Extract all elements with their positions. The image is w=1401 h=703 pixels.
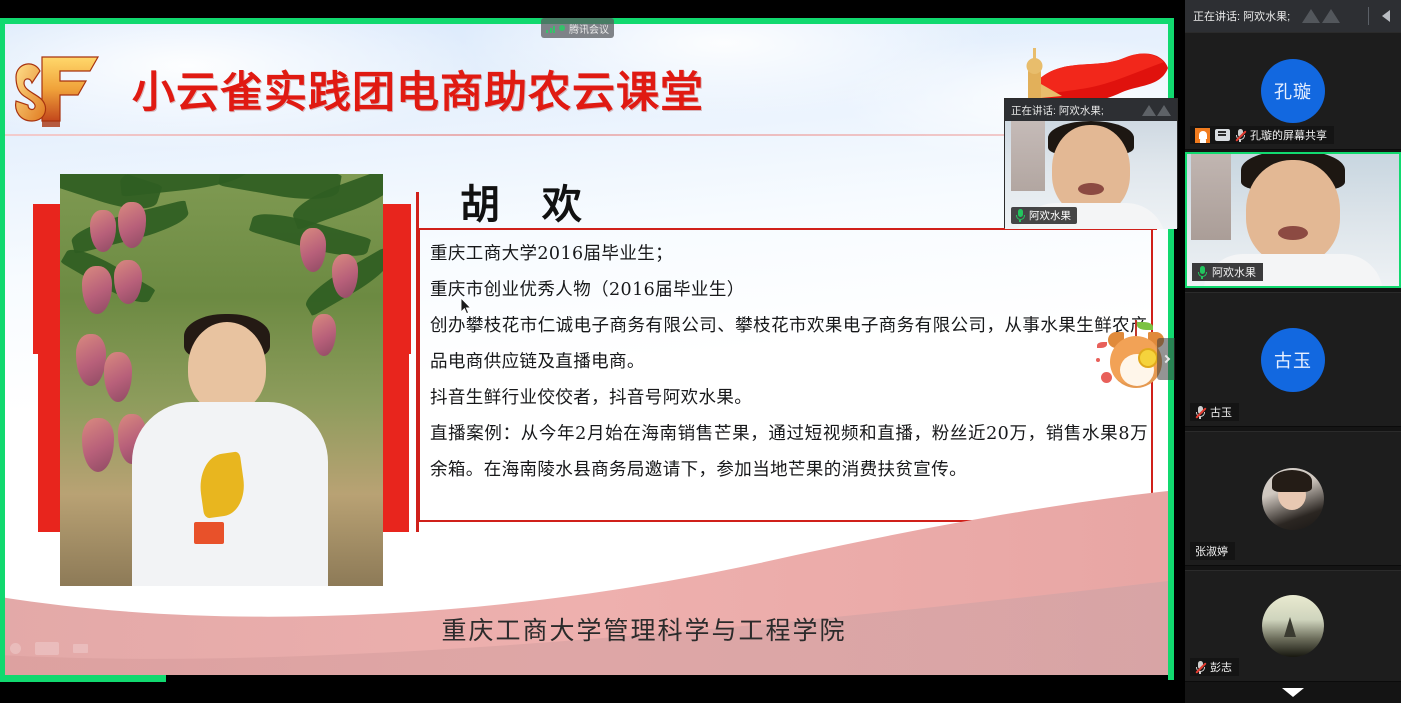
pip-audio-wave-icon: [1142, 105, 1171, 116]
avatar: 孔璇: [1261, 59, 1325, 123]
sidebar-collapse-button[interactable]: [1375, 5, 1397, 27]
participant-tile-ahuanshuiguo[interactable]: 阿欢水果: [1185, 152, 1401, 288]
host-badge-icon: [1195, 128, 1210, 143]
slide-title: 小云雀实践团电商助农云课堂: [132, 58, 704, 120]
bio-line-3: 创办攀枝花市仁诚电子商务有限公司、攀枝花市欢果电子商务有限公司，从事水果生鲜农产…: [430, 308, 1148, 380]
tile-label-row: 阿欢水果: [1192, 263, 1263, 281]
bio-text-panel: 重庆工商大学2016届毕业生； 重庆市创业优秀人物（2016届毕业生） 创办攀枝…: [418, 228, 1153, 522]
topbar-divider: [1368, 7, 1369, 25]
tencent-meeting-chip[interactable]: 腾讯会议: [541, 18, 614, 38]
mic-muted-icon: [1195, 661, 1205, 674]
floating-speaker-pip[interactable]: 正在讲话: 阿欢水果; 阿欢水果: [1004, 98, 1178, 228]
bio-line-1: 重庆工商大学2016届毕业生；: [430, 236, 1148, 272]
bio-text-body: 重庆工商大学2016届毕业生； 重庆市创业优秀人物（2016届毕业生） 创办攀枝…: [430, 236, 1148, 488]
tile-label-row: 古玉: [1190, 403, 1239, 421]
mic-on-icon: [1197, 266, 1207, 279]
mic-muted-icon: [1235, 129, 1245, 142]
screen-share-icon: [1215, 129, 1230, 141]
participant-tile-kongxuan[interactable]: 孔璇 孔璇的屏幕共享: [1185, 32, 1401, 150]
avatar: 古玉: [1261, 328, 1325, 392]
participant-name: 阿欢水果: [1212, 264, 1256, 280]
toolbar-pen-icon[interactable]: [10, 643, 21, 654]
bio-line-4: 抖音生鲜行业佼佼者，抖音号阿欢水果。: [430, 380, 1148, 416]
tile-label-row: 彭志: [1190, 658, 1239, 676]
bio-line-2: 重庆市创业优秀人物（2016届毕业生）: [430, 272, 1148, 308]
stage-letterbox-top: [0, 0, 1185, 18]
mic-muted-icon: [1195, 406, 1205, 419]
party-emblem-icon: [6, 49, 124, 129]
mouse-cursor-icon: [461, 298, 472, 314]
slide-footer-text: 重庆工商大学管理科学与工程学院: [0, 611, 1168, 647]
participant-tile-pengzhi[interactable]: 彭志: [1185, 570, 1401, 682]
mic-on-icon: [1015, 209, 1025, 222]
bio-line-5: 直播案例：从今年2月始在海南销售芒果，通过短视频和直播，粉丝近20万，销售水果8…: [430, 416, 1148, 488]
participant-name: 张淑婷: [1195, 543, 1228, 559]
tile-label-row: 张淑婷: [1190, 542, 1235, 560]
pip-video-feed[interactable]: 阿欢水果: [1005, 121, 1177, 229]
toolbar-more-icon[interactable]: [73, 644, 88, 653]
meeting-chip-label: 腾讯会议: [569, 21, 609, 36]
sidebar-speaking-label: 正在讲话: 阿欢水果;: [1193, 8, 1290, 24]
speaker-photo-block: [33, 204, 411, 559]
toolbar-slides-icon[interactable]: [35, 642, 59, 655]
recording-dot-icon: [559, 25, 565, 31]
participants-sidebar: 正在讲话: 阿欢水果; 孔璇 孔璇的屏幕共享: [1185, 0, 1401, 703]
pip-participant-name: 阿欢水果: [1029, 208, 1071, 223]
pip-titlebar[interactable]: 正在讲话: 阿欢水果;: [1005, 99, 1177, 121]
presentation-slide: 小云雀实践团电商助农云课堂: [0, 24, 1168, 675]
participant-tile-zhangshuting[interactable]: 张淑婷: [1185, 431, 1401, 566]
speaker-photo: [60, 174, 383, 586]
stage-letterbox-bottom: [0, 682, 1185, 703]
share-border-left: [0, 18, 5, 680]
sidebar-topbar[interactable]: 正在讲话: 阿欢水果;: [1185, 0, 1401, 32]
participant-name: 孔璇的屏幕共享: [1250, 127, 1327, 143]
chevron-down-icon: [1282, 688, 1304, 697]
signal-bars-icon: [546, 24, 555, 33]
pip-name-chip: 阿欢水果: [1011, 207, 1077, 224]
participant-name: 古玉: [1210, 404, 1232, 420]
pip-speaking-label: 正在讲话: 阿欢水果;: [1011, 103, 1104, 118]
sidebar-audio-wave-icon: [1302, 9, 1340, 23]
avatar: [1262, 595, 1324, 657]
participant-tile-guyu[interactable]: 古玉 古玉: [1185, 292, 1401, 427]
sidebar-collapse-chevron-icon[interactable]: [1157, 338, 1175, 380]
tile-label-row: 孔璇的屏幕共享: [1190, 126, 1334, 144]
share-border-bottom: [0, 675, 166, 682]
presenter-ghost-toolbar[interactable]: [10, 637, 100, 659]
slide-header: 小云雀实践团电商助农云课堂: [0, 46, 704, 132]
avatar: [1262, 468, 1324, 530]
participant-name: 彭志: [1210, 659, 1232, 675]
sidebar-scroll-down-button[interactable]: [1185, 683, 1401, 701]
meeting-app: 小云雀实践团电商助农云课堂: [0, 0, 1401, 703]
